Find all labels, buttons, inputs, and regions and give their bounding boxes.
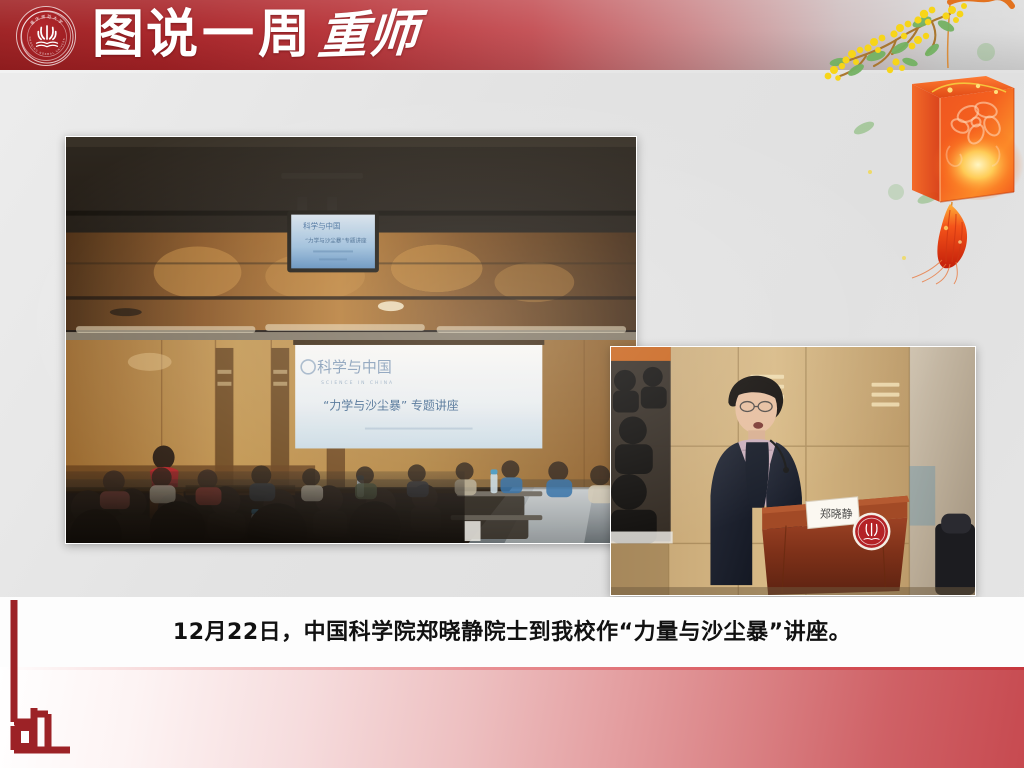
title-char-1: 图 [92, 8, 144, 62]
lecture-hall-image: 科学与中国 “力学与沙尘暴”专题讲座 [66, 137, 636, 543]
page-title-wordmark: 图 说 一 周 重师 [92, 3, 418, 67]
footer-hairline [0, 667, 1024, 670]
podium-university-emblem [853, 513, 891, 551]
svg-text:郑晓静: 郑晓静 [820, 507, 853, 521]
slide-canvas: 重庆师范大学 CHONGQING NORMAL UNIVERSITY 图 说 [0, 0, 1024, 768]
title-char-4: 周 [258, 8, 310, 62]
seal-emblem-icon: 重庆师范大学 CHONGQING NORMAL UNIVERSITY [17, 7, 77, 67]
podium: 郑晓静 [762, 496, 909, 595]
speaker-image: 郑晓静 [611, 347, 975, 595]
title-cursive-chars: 重师 [316, 6, 420, 63]
title-char-2: 说 [146, 8, 198, 62]
photo-speaker-at-podium: 郑晓静 [610, 346, 976, 596]
lantern-illustration-icon [800, 0, 1024, 286]
chinese-corner-bracket-icon [8, 598, 128, 758]
photo-lecture-hall-wide-shot: 科学与中国 “力学与沙尘暴”专题讲座 [65, 136, 637, 544]
university-seal-logo: 重庆师范大学 CHONGQING NORMAL UNIVERSITY [16, 6, 76, 66]
corner-ornament [8, 598, 128, 758]
photo-caption: 12月22日，中国科学院郑晓静院士到我校作“力量与沙尘暴”讲座。 [0, 614, 1024, 646]
footer-gradient-band [0, 667, 1024, 768]
podium-nameplate: 郑晓静 [806, 497, 860, 529]
lantern-decoration [800, 0, 1024, 286]
title-char-3: 一 [200, 8, 256, 62]
